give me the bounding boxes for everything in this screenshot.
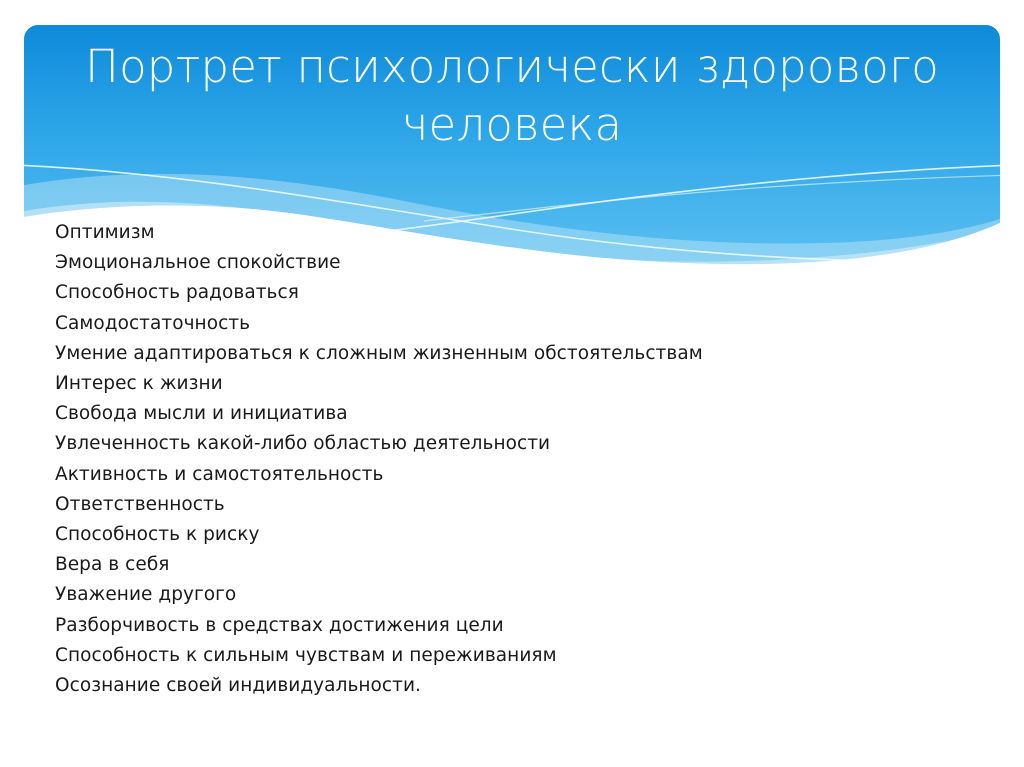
list-item: Активность и самостоятельность [55,460,985,490]
list-item: Эмоциональное спокойствие [55,248,985,278]
list-item: Интерес к жизни [55,369,985,399]
list-item: Разборчивость в средствах достижения цел… [55,611,985,641]
list-item: Способность к сильным чувствам и пережив… [55,641,985,671]
list-item: Самодостаточность [55,309,985,339]
list-item: Умение адаптироваться к сложным жизненны… [55,339,985,369]
list-item: Уважение другого [55,580,985,610]
list-item: Увлеченность какой-либо областью деятель… [55,429,985,459]
list-item: Оптимизм [55,218,985,248]
list-item: Вера в себя [55,550,985,580]
content-list: Оптимизм Эмоциональное спокойствие Спосо… [55,218,985,701]
list-item: Осознание своей индивидуальности. [55,671,985,701]
slide: Портрет психологически здорового человек… [0,0,1024,767]
list-item: Ответственность [55,490,985,520]
list-item: Способность к риску [55,520,985,550]
list-item: Способность радоваться [55,278,985,308]
list-item: Свобода мысли и инициатива [55,399,985,429]
